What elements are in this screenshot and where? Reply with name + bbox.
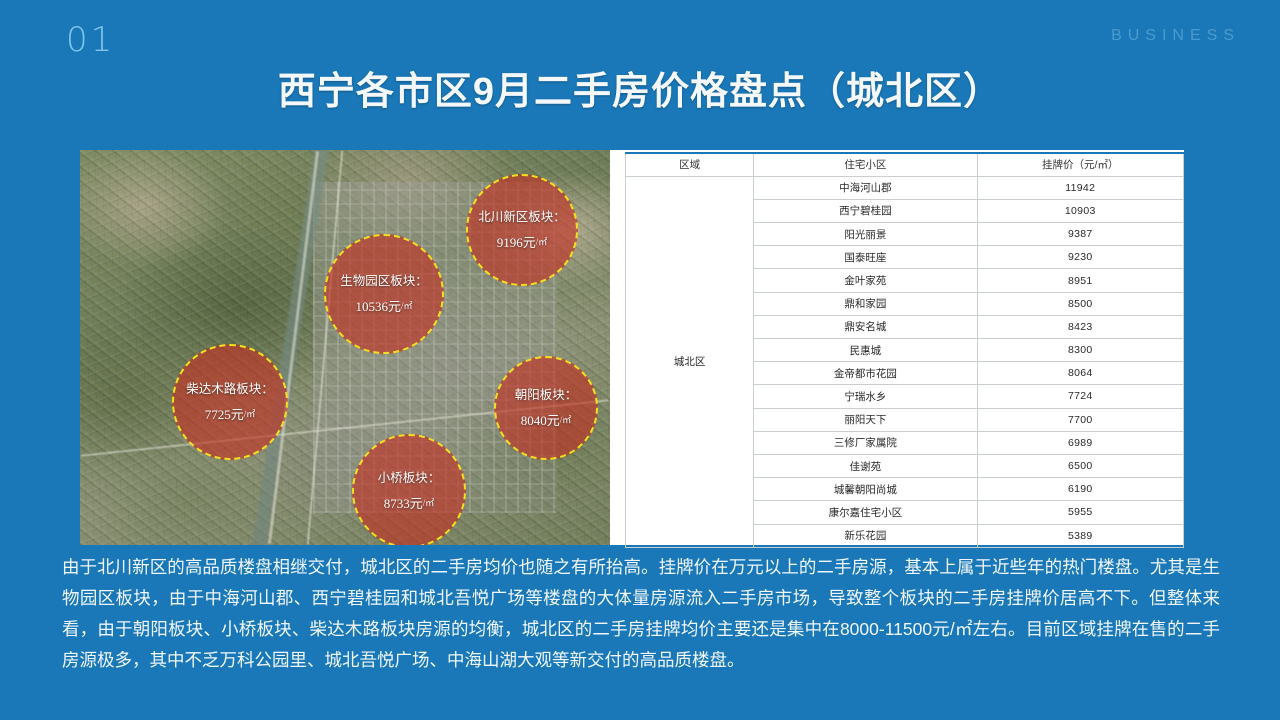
cell-listing-price: 7700 (977, 408, 1183, 431)
map-block-shengwuyuanqu[interactable]: 生物园区板块： 10536元/㎡ (324, 234, 444, 354)
map-block-label: 柴达木路板块： (186, 380, 274, 399)
cell-community-name: 宁瑞水乡 (754, 385, 977, 408)
cell-listing-price: 8064 (977, 362, 1183, 385)
cell-community-name: 民惠城 (754, 339, 977, 362)
map-block-price: 9196元/㎡ (497, 233, 548, 253)
cell-community-name: 金叶家苑 (754, 269, 977, 292)
cell-listing-price: 10903 (977, 199, 1183, 222)
map-block-beichuan[interactable]: 北川新区板块： 9196元/㎡ (466, 174, 578, 286)
cell-listing-price: 7724 (977, 385, 1183, 408)
map-block-price: 8040元/㎡ (521, 411, 572, 431)
map-block-price: 10536元/㎡ (355, 297, 412, 317)
cell-community-name: 阳光丽景 (754, 223, 977, 246)
brand-word: BUSINESS (1111, 27, 1240, 45)
price-table: 区域 住宅小区 挂牌价（元/㎡） 城北区中海河山郡11942西宁碧桂园10903… (625, 152, 1184, 548)
map-block-label: 朝阳板块： (515, 386, 578, 405)
map-block-label: 生物园区板块： (340, 272, 428, 291)
cell-listing-price: 8300 (977, 339, 1183, 362)
cell-community-name: 鼎和家园 (754, 292, 977, 315)
column-header-region: 区域 (626, 153, 754, 176)
map-block-label: 小桥板块： (378, 469, 441, 488)
map-block-price: 7725元/㎡ (205, 405, 256, 425)
page-title: 西宁各市区9月二手房价格盘点（城北区） (0, 60, 1280, 115)
cell-community-name: 中海河山郡 (754, 176, 977, 199)
map-block-price: 8733元/㎡ (384, 494, 435, 514)
cell-community-name: 康尔嘉住宅小区 (754, 501, 977, 524)
map-block-chaoyang[interactable]: 朝阳板块： 8040元/㎡ (494, 356, 598, 460)
price-table-head: 区域 住宅小区 挂牌价（元/㎡） (626, 153, 1184, 176)
price-table-container: 区域 住宅小区 挂牌价（元/㎡） 城北区中海河山郡11942西宁碧桂园10903… (625, 150, 1184, 545)
cell-listing-price: 9387 (977, 223, 1183, 246)
cell-community-name: 城馨朝阳尚城 (754, 478, 977, 501)
column-header-community: 住宅小区 (754, 153, 977, 176)
cell-listing-price: 6989 (977, 431, 1183, 454)
cell-listing-price: 8423 (977, 315, 1183, 338)
cell-community-name: 三修厂家属院 (754, 431, 977, 454)
cell-community-name: 丽阳天下 (754, 408, 977, 431)
satellite-map: 北川新区板块： 9196元/㎡ 生物园区板块： 10536元/㎡ 柴达木路板块：… (80, 150, 610, 545)
cell-community-name: 国泰旺座 (754, 246, 977, 269)
cell-listing-price: 8500 (977, 292, 1183, 315)
price-table-body: 城北区中海河山郡11942西宁碧桂园10903阳光丽景9387国泰旺座9230金… (626, 176, 1184, 547)
body-paragraph: 由于北川新区的高品质楼盘相继交付，城北区的二手房均价也随之有所抬高。挂牌价在万元… (62, 552, 1220, 676)
cell-community-name: 鼎安名城 (754, 315, 977, 338)
cell-listing-price: 6500 (977, 454, 1183, 477)
cell-listing-price: 8951 (977, 269, 1183, 292)
map-block-chaidamulu[interactable]: 柴达木路板块： 7725元/㎡ (172, 344, 288, 460)
cell-listing-price: 5955 (977, 501, 1183, 524)
section-number: 01 (66, 20, 115, 60)
cell-community-name: 西宁碧桂园 (754, 199, 977, 222)
cell-listing-price: 6190 (977, 478, 1183, 501)
table-header-row: 区域 住宅小区 挂牌价（元/㎡） (626, 153, 1184, 176)
slide-root: 01 BUSINESS 西宁各市区9月二手房价格盘点（城北区） 北川新区板块： … (0, 0, 1280, 720)
cell-region: 城北区 (626, 176, 754, 547)
map-block-label: 北川新区板块： (478, 208, 566, 227)
cell-listing-price: 9230 (977, 246, 1183, 269)
map-block-xiaoqiao[interactable]: 小桥板块： 8733元/㎡ (352, 434, 466, 545)
cell-community-name: 佳谢苑 (754, 454, 977, 477)
cell-community-name: 新乐花园 (754, 524, 977, 547)
cell-listing-price: 11942 (977, 176, 1183, 199)
cell-community-name: 金帝都市花园 (754, 362, 977, 385)
column-header-price: 挂牌价（元/㎡） (977, 153, 1183, 176)
table-row: 城北区中海河山郡11942 (626, 176, 1184, 199)
content-panel: 北川新区板块： 9196元/㎡ 生物园区板块： 10536元/㎡ 柴达木路板块：… (80, 150, 1184, 545)
cell-listing-price: 5389 (977, 524, 1183, 547)
